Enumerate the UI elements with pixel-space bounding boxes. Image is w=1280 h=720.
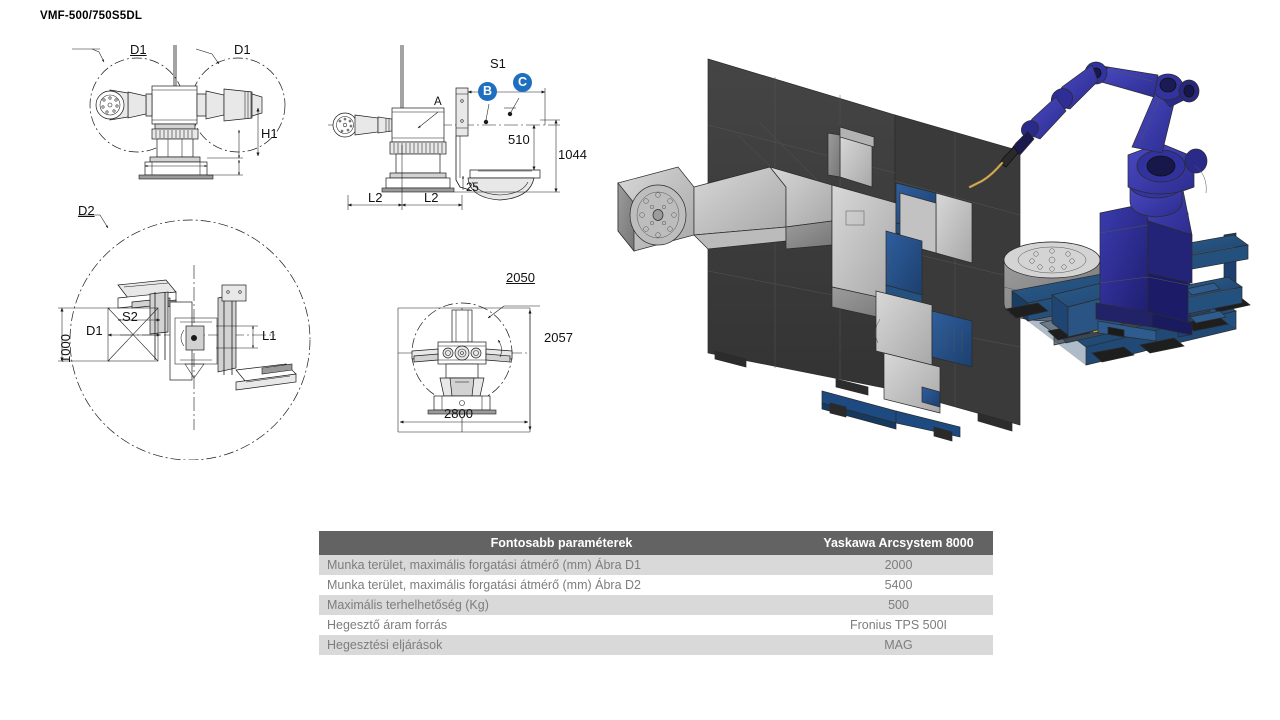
label-s2: S2 — [122, 309, 138, 324]
row-value: 500 — [804, 595, 993, 615]
label-2050: 2050 — [506, 270, 535, 285]
row-value: Fronius TPS 500I — [804, 615, 993, 635]
label-a: A — [434, 96, 442, 108]
row-parameter: Hegesztési eljárások — [319, 635, 804, 655]
row-parameter: Maximális terhelhetőség (Kg) — [319, 595, 804, 615]
header-parameter: Fontosabb paraméterek — [319, 531, 804, 555]
cell-render-svg: .e { stroke:#2b2b2b; stroke-width:0.7; }… — [600, 35, 1280, 445]
label-l2-left: L2 — [368, 190, 382, 205]
label-s1: S1 — [490, 56, 506, 71]
row-value: 5400 — [804, 575, 993, 595]
row-value: MAG — [804, 635, 993, 655]
label-l2-right: L2 — [424, 190, 438, 205]
technical-drawings-svg: .ln { stroke:#1a1a1a; stroke-width:0.8; … — [0, 30, 600, 460]
label-510: 510 — [508, 132, 530, 147]
label-d2: D2 — [78, 203, 95, 218]
label-1044: 1044 — [558, 147, 587, 162]
label-25: 25 — [466, 182, 479, 194]
table-row: Munka terület, maximális forgatási átmér… — [319, 575, 993, 595]
badge-b: B — [478, 82, 497, 101]
table-header-row: Fontosabb paraméterek Yaskawa Arcsystem … — [319, 531, 993, 555]
label-d1-plan: D1 — [86, 323, 103, 338]
label-h1: H1 — [261, 126, 278, 141]
label-d1-right: D1 — [234, 42, 251, 57]
technical-drawings-panel: .ln { stroke:#1a1a1a; stroke-width:0.8; … — [0, 30, 600, 460]
header-value: Yaskawa Arcsystem 8000 — [804, 531, 993, 555]
label-1000: 1000 — [58, 334, 73, 363]
table-row: Hegesztő áram forrás Fronius TPS 500I — [319, 615, 993, 635]
row-parameter: Munka terület, maximális forgatási átmér… — [319, 555, 804, 575]
table-row: Maximális terhelhetőség (Kg) 500 — [319, 595, 993, 615]
table-row: Munka terület, maximális forgatási átmér… — [319, 555, 993, 575]
arc-welding-cell-3d-view: .e { stroke:#2b2b2b; stroke-width:0.7; }… — [600, 35, 1280, 445]
specifications-table: Fontosabb paraméterek Yaskawa Arcsystem … — [319, 531, 993, 655]
label-l1: L1 — [262, 328, 276, 343]
label-2057: 2057 — [544, 330, 573, 345]
row-value: 2000 — [804, 555, 993, 575]
label-d1-left: D1 — [130, 42, 147, 57]
label-2800: 2800 — [444, 406, 473, 421]
drawing-top-middle — [328, 45, 560, 210]
page-title: VMF-500/750S5DL — [40, 10, 142, 22]
drawing-top-left — [72, 45, 285, 179]
table-row: Hegesztési eljárások MAG — [319, 635, 993, 655]
badge-c: C — [513, 73, 532, 92]
row-parameter: Hegesztő áram forrás — [319, 615, 804, 635]
row-parameter: Munka terület, maximális forgatási átmér… — [319, 575, 804, 595]
